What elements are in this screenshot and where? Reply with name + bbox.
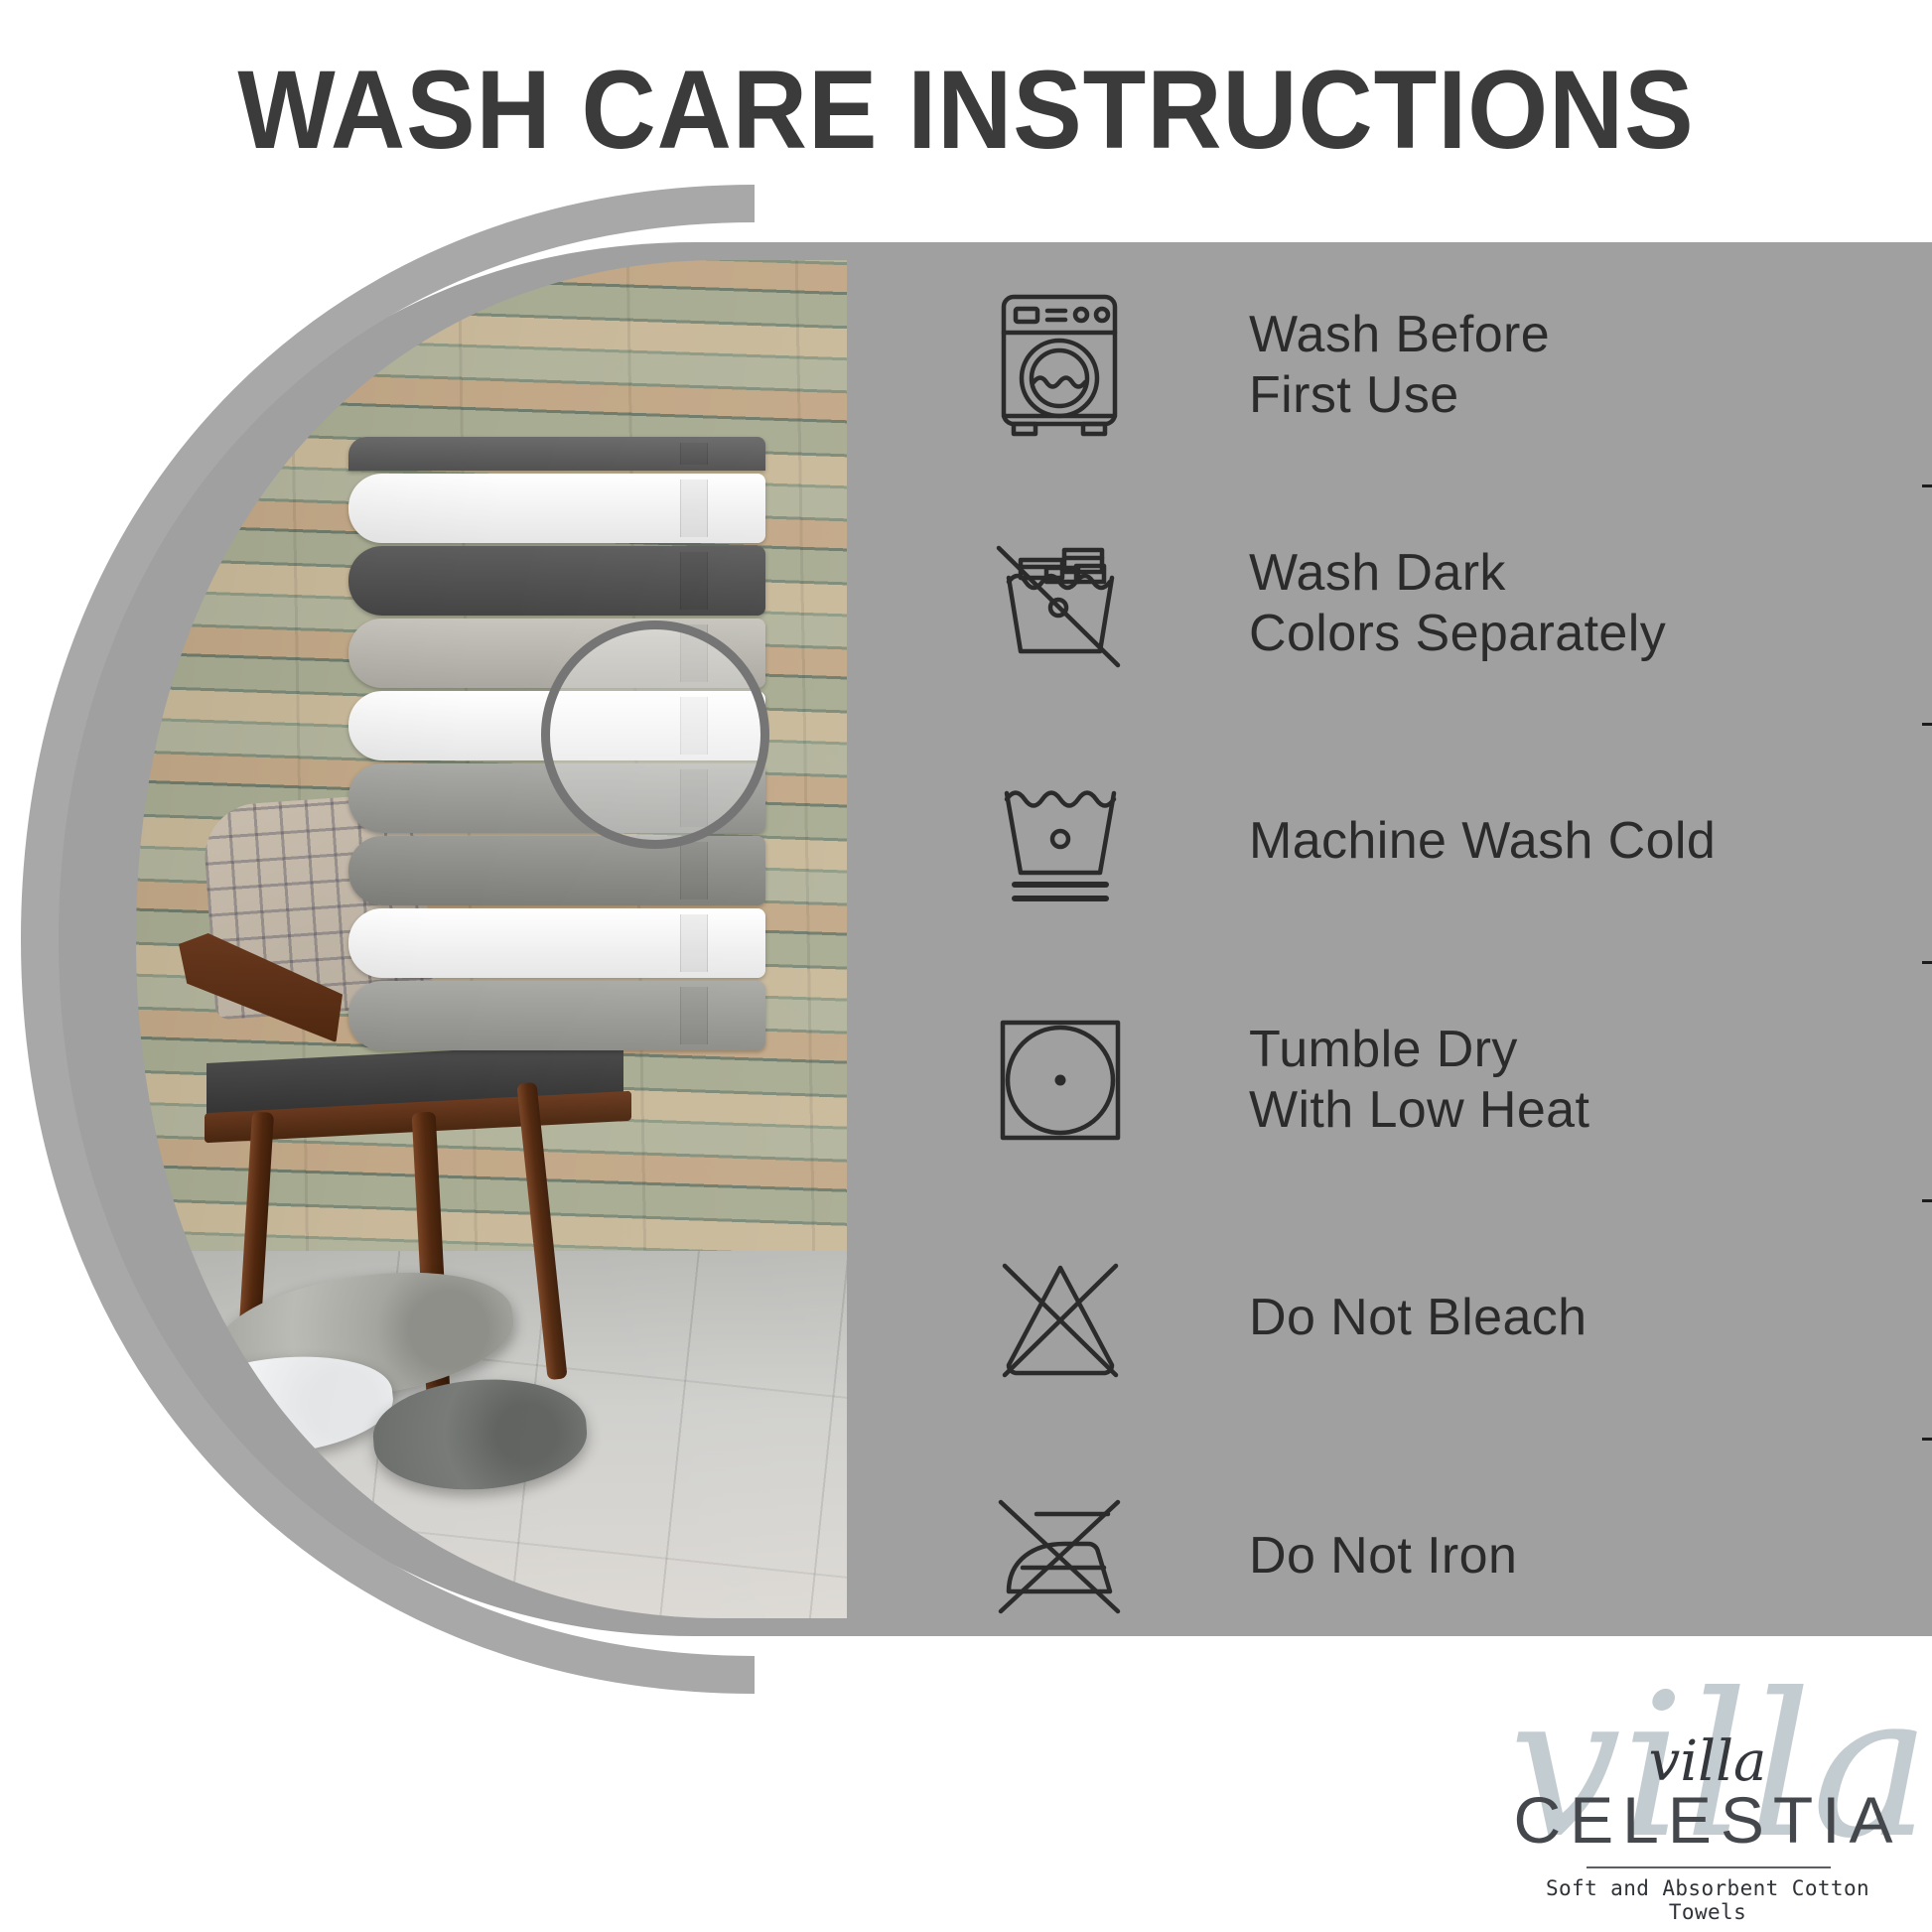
list-divider: [1922, 723, 1932, 726]
instruction-label: Do Not Iron: [1160, 1526, 1517, 1587]
instruction-label: Wash Before First Use: [1160, 305, 1550, 427]
instruction-row-wash-before-first-use[interactable]: Wash Before First Use: [961, 246, 1855, 484]
logo-underline: [1587, 1866, 1831, 1868]
instruction-row-do-not-iron[interactable]: Do Not Iron: [961, 1438, 1855, 1676]
instruction-row-machine-wash-cold[interactable]: Machine Wash Cold: [961, 723, 1855, 961]
brand-logo: villa villa CELESTIA Soft and Absorbent …: [1509, 1678, 1906, 1911]
decorative-circle-overlay: [541, 621, 769, 849]
instruction-list: Wash Before First Use Wash Dark: [961, 246, 1855, 1676]
instruction-row-do-not-bleach[interactable]: Do Not Bleach: [961, 1199, 1855, 1438]
list-divider: [1922, 1199, 1932, 1202]
machine-wash-cold-icon: [961, 777, 1160, 906]
logo-tagline: Soft and Absorbent Cotton Towels: [1509, 1876, 1906, 1924]
list-divider: [1922, 961, 1932, 964]
do-not-iron-icon: [961, 1492, 1160, 1621]
instruction-label: Do Not Bleach: [1160, 1288, 1587, 1348]
wash-care-poster: WASH CARE INSTRUCTIONS: [0, 0, 1932, 1932]
instruction-row-wash-dark-colors-separately[interactable]: Wash Dark Colors Separately: [961, 484, 1855, 723]
logo-brand-name: CELESTIA: [1509, 1782, 1906, 1858]
list-divider: [1922, 484, 1932, 487]
instruction-row-tumble-dry-low-heat[interactable]: Tumble Dry With Low Heat: [961, 961, 1855, 1199]
page-title: WASH CARE INSTRUCTIONS: [68, 46, 1864, 174]
tumble-dry-low-icon: [961, 1015, 1160, 1146]
instruction-label: Tumble Dry With Low Heat: [1160, 1020, 1589, 1142]
washing-machine-icon: [961, 291, 1160, 440]
instruction-label: Machine Wash Cold: [1160, 811, 1716, 872]
wash-dark-separately-icon: [961, 534, 1160, 673]
instruction-label: Wash Dark Colors Separately: [1160, 543, 1666, 665]
list-divider: [1922, 1438, 1932, 1441]
do-not-bleach-icon: [961, 1254, 1160, 1383]
